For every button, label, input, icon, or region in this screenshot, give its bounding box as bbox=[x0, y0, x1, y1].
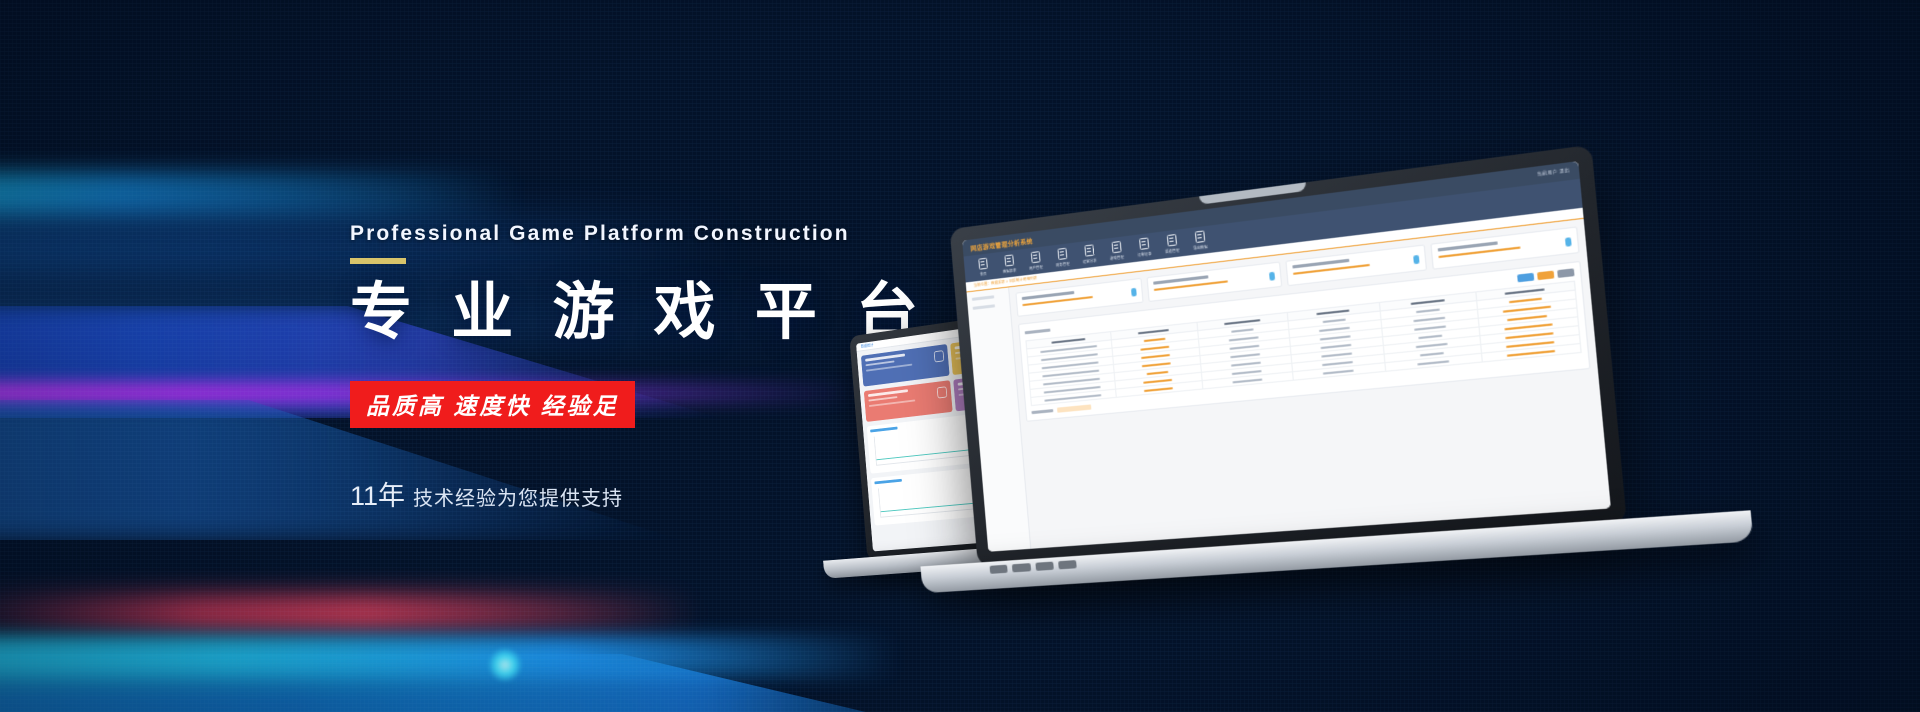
toolbar-item-财务管理[interactable]: 财务管理 bbox=[1049, 247, 1076, 268]
table-caption bbox=[1025, 329, 1051, 335]
promo-banner: Professional Game Platform Construction … bbox=[0, 0, 1920, 712]
box-icon bbox=[1166, 234, 1176, 247]
admin-ui: 网店游戏管理分析系统 当前用户 退出 首页数据报表用户管理财务管理运营分析游戏管… bbox=[962, 161, 1611, 552]
doc-icon bbox=[1057, 248, 1067, 260]
grid-icon bbox=[1111, 241, 1121, 253]
status-badge-label: 品质高 速度快 经验足 bbox=[366, 393, 619, 419]
reset-button[interactable] bbox=[1557, 268, 1574, 278]
sidebar-item[interactable] bbox=[973, 304, 996, 310]
toolbar-item-首页[interactable]: 首页 bbox=[970, 257, 997, 278]
toolbar-item-label: 导出数据 bbox=[1193, 244, 1208, 251]
dashboard-title: 数据统计 bbox=[861, 342, 874, 349]
export-button[interactable] bbox=[1537, 271, 1554, 281]
toolbar-item-label: 首页 bbox=[980, 271, 987, 277]
eyebrow-underline bbox=[350, 258, 406, 264]
toolbar-item-label: 订单记录 bbox=[1137, 251, 1151, 258]
status-badge: 品质高 速度快 经验足 bbox=[350, 381, 635, 428]
experience-tail: 技术经验为您提供支持 bbox=[413, 488, 623, 510]
toolbar-item-游戏管理[interactable]: 游戏管理 bbox=[1102, 240, 1130, 262]
stat-card[interactable] bbox=[861, 344, 949, 387]
toolbar-item-订单记录[interactable]: 订单记录 bbox=[1130, 236, 1158, 258]
list-icon bbox=[1139, 238, 1149, 250]
kpi-icon bbox=[1565, 237, 1572, 247]
kpi-icon bbox=[1268, 272, 1274, 281]
toolbar-item-label: 游戏管理 bbox=[1110, 254, 1124, 261]
file-icon bbox=[978, 258, 988, 270]
sidebar-item[interactable] bbox=[972, 295, 995, 301]
experience-years: 11年 bbox=[350, 481, 405, 511]
laptop-screen-front: 网店游戏管理分析系统 当前用户 退出 首页数据报表用户管理财务管理运营分析游戏管… bbox=[962, 161, 1611, 552]
user-icon bbox=[1030, 251, 1040, 263]
toolbar-item-数据报表[interactable]: 数据报表 bbox=[996, 253, 1023, 274]
kpi-icon bbox=[1131, 288, 1137, 297]
admin-account[interactable]: 当前用户 退出 bbox=[1537, 168, 1570, 179]
toolbar-item-label: 渠道管理 bbox=[1165, 247, 1179, 254]
toolbar-item-label: 运营分析 bbox=[1083, 257, 1097, 264]
toolbar-item-运营分析[interactable]: 运营分析 bbox=[1075, 243, 1103, 265]
stat-card[interactable] bbox=[864, 380, 953, 422]
download-icon bbox=[1194, 230, 1204, 243]
toolbar-item-label: 数据报表 bbox=[1003, 267, 1017, 274]
toolbar-item-渠道管理[interactable]: 渠道管理 bbox=[1158, 233, 1187, 255]
report-icon bbox=[1004, 254, 1014, 266]
query-button[interactable] bbox=[1517, 273, 1534, 283]
toolbar-item-label: 用户管理 bbox=[1029, 264, 1043, 271]
toolbar-item-用户管理[interactable]: 用户管理 bbox=[1022, 250, 1049, 271]
device-mockups: 数据统计 bbox=[770, 230, 1920, 650]
toolbar-item-导出数据[interactable]: 导出数据 bbox=[1185, 229, 1214, 251]
kpi-icon bbox=[1413, 255, 1419, 264]
chart-icon bbox=[1084, 244, 1094, 256]
toolbar-item-label: 财务管理 bbox=[1056, 261, 1070, 268]
